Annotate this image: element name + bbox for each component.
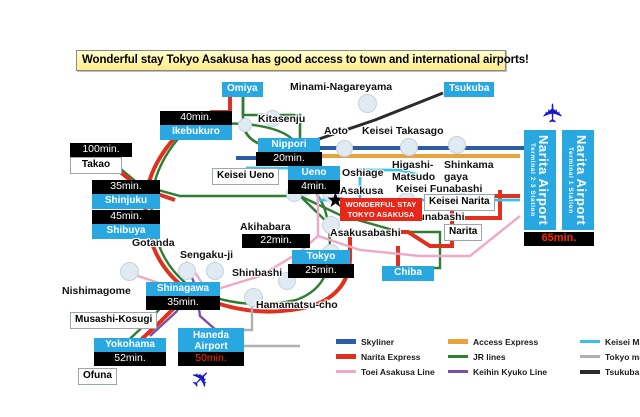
- legend-item-skyliner: Skyliner: [336, 337, 448, 347]
- station-node: [400, 138, 418, 156]
- station-akihabara[interactable]: Akihabara: [240, 222, 291, 233]
- legend-label-keihin-kyuko-line: Keihin Kyuko Line: [473, 367, 547, 377]
- time-shibuya: 45min.: [92, 210, 160, 224]
- callout-line1: WONDERFUL STAY: [346, 200, 417, 209]
- time-takao: 100min.: [70, 143, 132, 157]
- station-higashi-matsudo[interactable]: Higashi- Matsudo: [392, 160, 435, 183]
- headline-text: Wonderful stay Tokyo Asakusa has good ac…: [77, 51, 505, 70]
- legend-swatch-skyliner: [336, 339, 356, 344]
- station-node: [120, 262, 139, 281]
- airplane-icon-narita: ✈: [540, 102, 566, 124]
- narita-t1-terminal-label: Terminal 1 Station: [567, 147, 574, 214]
- station-tokyo[interactable]: Tokyo: [292, 250, 350, 265]
- station-chiba[interactable]: Chiba: [382, 266, 434, 281]
- narita-terminal-23-panel[interactable]: Terminal 2·3 Station Narita Airport: [524, 130, 556, 230]
- transit-map: Terminal 2·3 Station Narita Airport Term…: [0, 0, 640, 417]
- legend-label-narita-express: Narita Express: [361, 352, 421, 362]
- station-node: [206, 262, 224, 280]
- station-gotanda[interactable]: Gotanda: [132, 238, 175, 249]
- station-nishimagome[interactable]: Nishimagome: [62, 286, 131, 297]
- hotel-callout: WONDERFUL STAY TOKYO ASAKUSA: [340, 198, 422, 221]
- legend-swatch-tokyo-monorail: [580, 355, 600, 358]
- legend-swatch-keihin-kyuko-line: [448, 370, 468, 373]
- station-haneda-airport[interactable]: Haneda Airport: [178, 328, 244, 355]
- station-aoto[interactable]: Aoto: [324, 126, 348, 137]
- station-ueno[interactable]: Ueno: [288, 166, 340, 181]
- station-keisei-funabashi[interactable]: Keisei Funabashi: [396, 184, 482, 195]
- higashi-matsudo-line2: Matsudo: [392, 171, 435, 183]
- station-node: [178, 262, 196, 280]
- station-keisei-takasago[interactable]: Keisei Takasago: [362, 126, 444, 137]
- legend-item-access-express: Access Express: [448, 337, 580, 347]
- legend-item-keisei-main-line: Keisei Main Line: [580, 337, 640, 347]
- time-yokohama: 52min.: [94, 352, 166, 366]
- line-tokyo-monorail-haneda: [236, 330, 300, 346]
- legend-item-tsukuba-express: Tsukuba Express: [580, 367, 640, 377]
- station-asakusabashi[interactable]: Asakusabashi: [330, 228, 401, 239]
- shinkamagaya-line2: gaya: [444, 171, 468, 183]
- legend-item-keihin-kyuko-line: Keihin Kyuko Line: [448, 367, 580, 377]
- higashi-matsudo-line1: Higashi-: [392, 159, 433, 171]
- station-ikebukuro[interactable]: Ikebukuro: [160, 125, 232, 140]
- shinkamagaya-line1: Shinkama: [444, 159, 494, 171]
- legend-swatch-tsukuba-express: [580, 370, 600, 374]
- station-nippori[interactable]: Nippori: [258, 138, 320, 153]
- legend-swatch-toei-asakusa-line: [336, 370, 356, 373]
- legend: Skyliner Access Express Keisei Main Line…: [336, 334, 636, 380]
- station-omiya[interactable]: Omiya: [222, 82, 263, 97]
- station-hamamatsucho[interactable]: Hamamatsu-cho: [256, 300, 338, 311]
- legend-label-access-express: Access Express: [473, 337, 538, 347]
- legend-item-jr-lines: JR lines: [448, 352, 580, 362]
- station-yokohama[interactable]: Yokohama: [94, 338, 166, 353]
- headline-banner: Wonderful stay Tokyo Asakusa has good ac…: [76, 50, 506, 71]
- narita-terminal-1-panel[interactable]: Terminal 1 Station Narita Airport: [562, 130, 594, 230]
- station-narita[interactable]: Narita: [444, 224, 482, 241]
- time-shinjuku: 35min.: [92, 180, 160, 194]
- station-node: [336, 140, 353, 157]
- narita-t23-terminal-label: Terminal 2·3 Station: [529, 143, 536, 217]
- narita-t1-name: Narita Airport: [574, 135, 589, 225]
- station-node: [238, 118, 252, 132]
- station-takao[interactable]: Takao: [70, 157, 122, 174]
- legend-label-tokyo-monorail: Tokyo monorail: [605, 352, 640, 362]
- legend-item-tokyo-monorail: Tokyo monorail: [580, 352, 640, 362]
- legend-label-jr-lines: JR lines: [473, 352, 506, 362]
- station-shinkamagaya[interactable]: Shinkama gaya: [444, 160, 494, 183]
- legend-label-tsukuba-express: Tsukuba Express: [605, 367, 640, 377]
- station-node: [448, 136, 466, 154]
- time-tokyo: 25min.: [288, 264, 354, 278]
- station-shinjuku[interactable]: Shinjuku: [92, 194, 160, 209]
- station-keisei-narita[interactable]: Keisei Narita: [424, 194, 495, 211]
- legend-item-narita-express: Narita Express: [336, 352, 448, 362]
- station-keisei-ueno[interactable]: Keisei Ueno: [212, 168, 279, 185]
- station-minami-nagareyama[interactable]: Minami-Nagareyama: [290, 82, 392, 93]
- station-sengakuji[interactable]: Sengaku-ji: [180, 250, 233, 261]
- station-asakusa[interactable]: Asakusa: [340, 186, 383, 197]
- station-oshiage[interactable]: Oshiage: [342, 168, 383, 179]
- station-shinagawa[interactable]: Shinagawa: [146, 282, 220, 297]
- station-kitasenju[interactable]: Kitasenju: [258, 114, 305, 125]
- legend-item-toei-asakusa-line: Toei Asakusa Line: [336, 367, 448, 377]
- time-haneda-airport: 50min.: [178, 352, 244, 366]
- narita-airport-time: 65min.: [524, 232, 594, 246]
- time-akihabara: 22min.: [242, 234, 310, 248]
- time-ikebukuro: 40min.: [160, 111, 232, 125]
- station-tsukuba[interactable]: Tsukuba: [444, 82, 494, 97]
- legend-swatch-narita-express: [336, 354, 356, 359]
- haneda-line1: Haneda: [193, 330, 229, 341]
- legend-swatch-access-express: [448, 339, 468, 344]
- time-nippori: 20min.: [256, 152, 322, 166]
- station-shinbashi[interactable]: Shinbashi: [232, 268, 282, 279]
- callout-line2: TOKYO ASAKUSA: [348, 210, 415, 219]
- station-ofuna[interactable]: Ofuna: [78, 368, 117, 385]
- station-musashi-kosugi[interactable]: Musashi-Kosugi: [70, 312, 157, 329]
- legend-label-toei-asakusa-line: Toei Asakusa Line: [361, 367, 435, 377]
- station-node: [358, 94, 377, 113]
- haneda-line2: Airport: [194, 341, 227, 352]
- legend-label-keisei-main-line: Keisei Main Line: [605, 337, 640, 347]
- narita-t23-name: Narita Airport: [536, 135, 551, 225]
- time-shinagawa: 35min.: [146, 296, 220, 310]
- legend-swatch-keisei-main-line: [580, 340, 600, 343]
- legend-swatch-jr-lines: [448, 355, 468, 358]
- legend-label-skyliner: Skyliner: [361, 337, 394, 347]
